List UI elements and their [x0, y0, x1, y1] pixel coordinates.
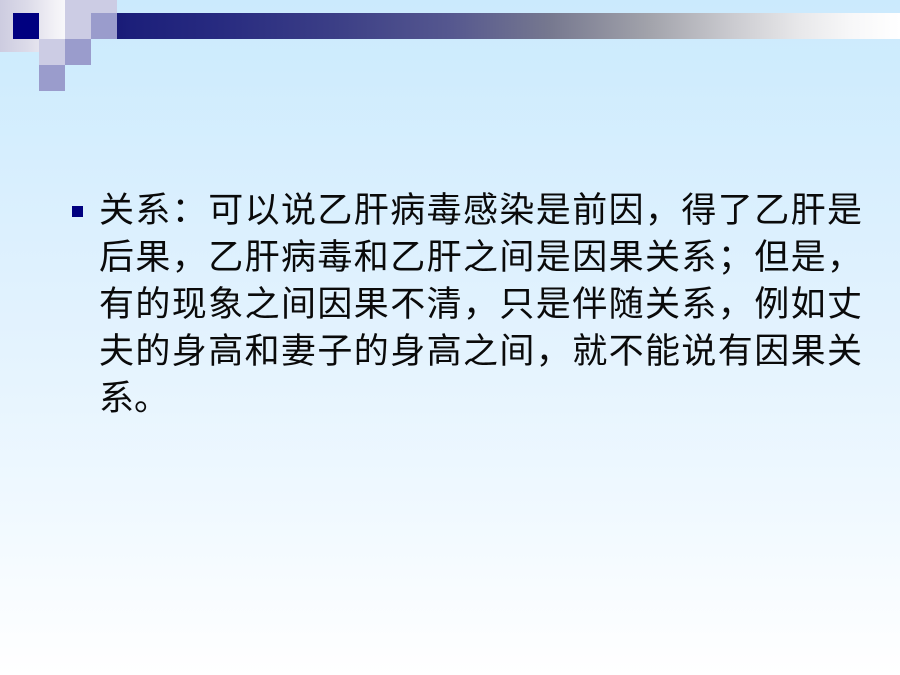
bullet-square-icon	[72, 206, 83, 217]
deco-square-periwinkle-2	[65, 39, 91, 65]
deco-square-lavender-1	[65, 0, 91, 13]
bullet-list-item: 关系：可以说乙肝病毒感染是前因，得了乙肝是后果，乙肝病毒和乙肝之间是因果关系；但…	[72, 188, 862, 423]
deco-square-lavender-3	[65, 13, 91, 39]
deco-square-periwinkle-1	[91, 13, 117, 39]
deco-square-navy-1	[13, 13, 39, 39]
slide-body: 关系：可以说乙肝病毒感染是前因，得了乙肝是后果，乙肝病毒和乙肝之间是因果关系；但…	[72, 188, 862, 423]
bullet-paragraph-text: 关系：可以说乙肝病毒感染是前因，得了乙肝是后果，乙肝病毒和乙肝之间是因果关系；但…	[99, 188, 862, 423]
slide-canvas: 关系：可以说乙肝病毒感染是前因，得了乙肝是后果，乙肝病毒和乙肝之间是因果关系；但…	[0, 0, 900, 675]
slide-header-decoration	[0, 0, 900, 70]
deco-square-lavender-2	[91, 0, 117, 13]
header-gradient-bar	[65, 13, 900, 39]
deco-square-periwinkle-3	[39, 65, 65, 91]
deco-square-lavender-4	[39, 39, 65, 65]
